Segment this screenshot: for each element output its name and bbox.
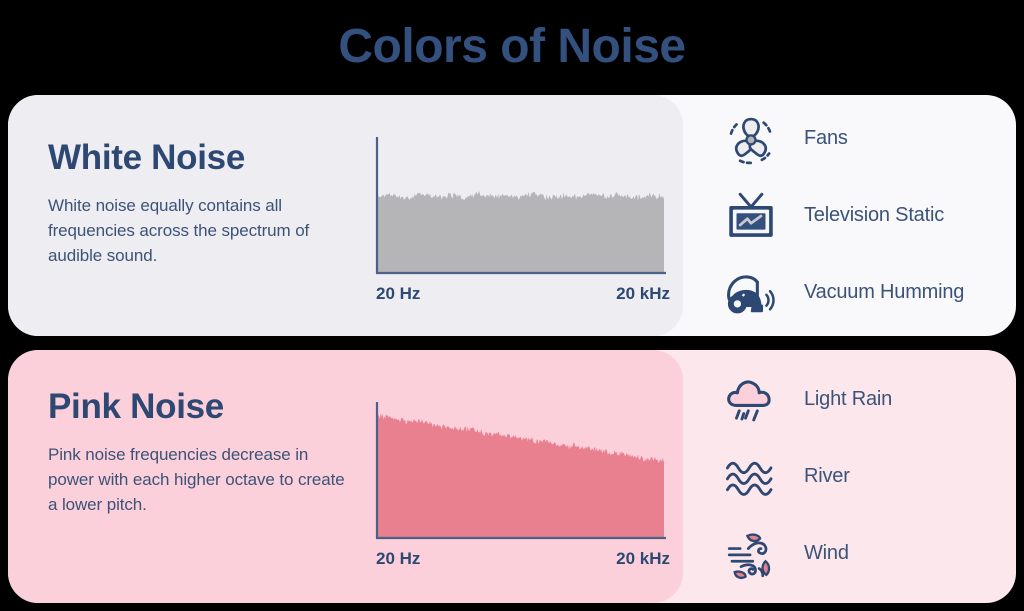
list-item[interactable]: Wind xyxy=(720,515,1016,592)
list-item[interactable]: River xyxy=(720,438,1016,515)
pink-noise-card: Pink Noise Pink noise frequencies decrea… xyxy=(8,350,1016,603)
axis-label-high: 20 kHz xyxy=(616,284,670,304)
list-item-label: Fans xyxy=(804,127,848,150)
vacuum-icon xyxy=(720,262,782,324)
list-item-label: River xyxy=(804,465,850,488)
pink-noise-axis-labels: 20 Hz 20 kHz xyxy=(370,549,670,571)
axis-label-low: 20 Hz xyxy=(376,284,420,304)
list-item[interactable]: Fans xyxy=(720,100,1016,177)
pink-noise-chart: 20 Hz 20 kHz xyxy=(370,400,670,575)
white-noise-axis-labels: 20 Hz 20 kHz xyxy=(370,284,670,306)
rain-cloud-icon xyxy=(720,369,782,431)
television-icon xyxy=(720,185,782,247)
white-noise-text-block: White Noise White noise equally contains… xyxy=(48,137,348,268)
list-item[interactable]: Television Static xyxy=(720,177,1016,254)
axis-label-low: 20 Hz xyxy=(376,549,420,569)
list-item-label: Vacuum Humming xyxy=(804,281,964,304)
pink-noise-description: Pink noise frequencies decrease in power… xyxy=(48,442,348,517)
white-noise-spectrum-svg xyxy=(370,135,670,280)
page-title: Colors of Noise xyxy=(0,18,1024,76)
pink-noise-text-block: Pink Noise Pink noise frequencies decrea… xyxy=(48,386,348,517)
axis-label-high: 20 kHz xyxy=(616,549,670,569)
white-noise-chart: 20 Hz 20 kHz xyxy=(370,135,670,310)
fan-icon xyxy=(720,108,782,170)
wind-icon xyxy=(720,523,782,585)
water-waves-icon xyxy=(720,446,782,508)
list-item[interactable]: Light Rain xyxy=(720,361,1016,438)
list-item-label: Television Static xyxy=(804,204,944,227)
pink-noise-heading: Pink Noise xyxy=(48,386,348,428)
white-noise-icon-list: Fans Television Static xyxy=(720,95,1016,336)
list-item[interactable]: Vacuum Humming xyxy=(720,254,1016,331)
pink-noise-icon-list: Light Rain River xyxy=(720,350,1016,603)
white-noise-card: White Noise White noise equally contains… xyxy=(8,95,1016,336)
pink-noise-spectrum-svg xyxy=(370,400,670,545)
list-item-label: Light Rain xyxy=(804,388,892,411)
white-noise-heading: White Noise xyxy=(48,137,348,179)
infographic-root: Colors of Noise White Noise White noise … xyxy=(0,0,1024,611)
white-noise-description: White noise equally contains all frequen… xyxy=(48,193,348,268)
list-item-label: Wind xyxy=(804,542,849,565)
